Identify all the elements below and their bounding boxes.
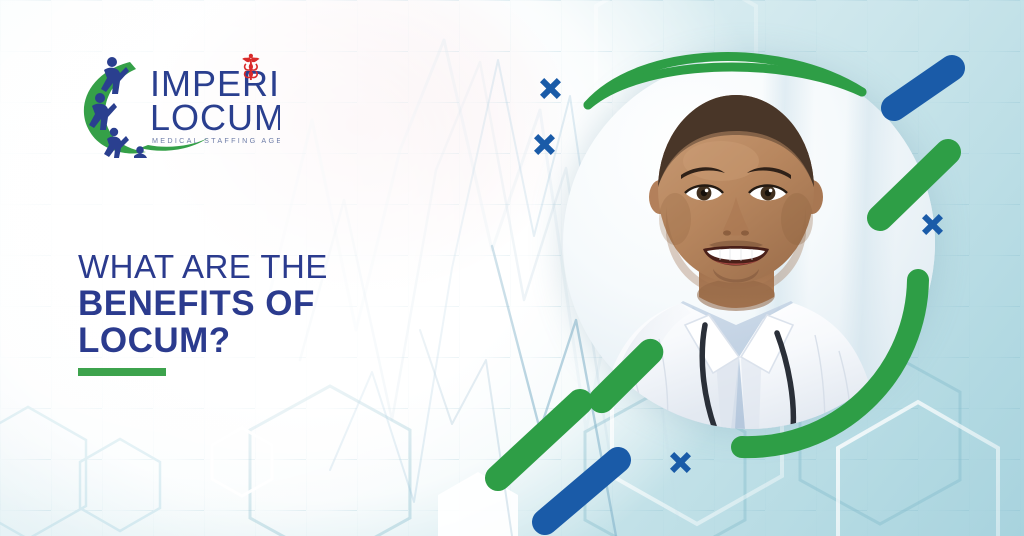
logo-tagline: MEDICAL STAFFING AGENCY	[152, 136, 280, 145]
logo-figures-icon	[89, 57, 147, 158]
doctor-photo-circle	[563, 57, 935, 429]
logo-wordmark-line2: LOCUM	[150, 97, 280, 138]
headline-underline-accent	[78, 368, 166, 376]
headline-line-3: LOCUM?	[78, 322, 408, 359]
doctor-portrait-illustration	[563, 57, 935, 429]
headline-line-2: BENEFITS OF	[78, 285, 408, 322]
headline-block: WHAT ARE THE BENEFITS OF LOCUM?	[78, 250, 408, 376]
marketing-banner: IMPERIAL LOCUM MEDICAL STAFFING AGENCY W…	[0, 0, 1024, 536]
head	[658, 93, 814, 297]
logo-graphic: IMPERIAL LOCUM MEDICAL STAFFING AGENCY	[68, 50, 280, 158]
imperial-locum-logo[interactable]: IMPERIAL LOCUM MEDICAL STAFFING AGENCY	[68, 50, 280, 158]
headline-line-1: WHAT ARE THE	[78, 250, 408, 285]
caduceus-icon	[242, 54, 259, 80]
